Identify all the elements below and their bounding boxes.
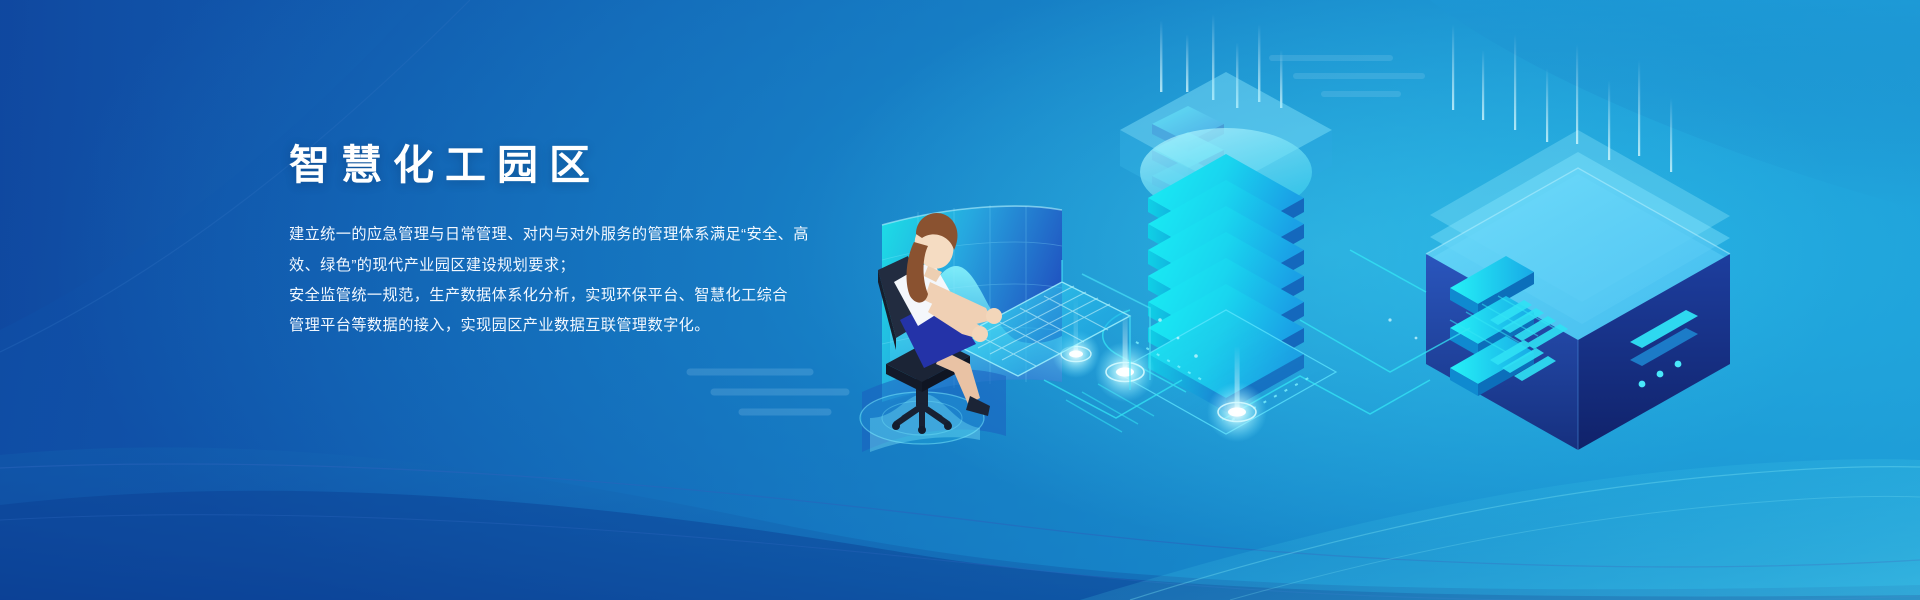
- wave-hairline-2: [0, 515, 1920, 600]
- description-line: 安全监管统一规范，生产数据体系化分析，实现环保平台、智慧化工综合: [289, 281, 909, 311]
- page-title: 智慧化工园区: [289, 142, 909, 189]
- description-line: 效、绿色”的现代产业园区建设规划要求；: [289, 251, 909, 281]
- cloud-glyph-left: [690, 372, 846, 412]
- description-line: 建立统一的应急管理与日常管理、对内与对外服务的管理体系满足“安全、高: [289, 220, 909, 250]
- banner-text-block: 智慧化工园区 建立统一的应急管理与日常管理、对内与对外服务的管理体系满足“安全、…: [289, 142, 909, 342]
- wave-lower-left-2: [0, 491, 1920, 600]
- description-block: 建立统一的应急管理与日常管理、对内与对外服务的管理体系满足“安全、高 效、绿色”…: [289, 189, 909, 342]
- hero-banner: 智慧化工园区 建立统一的应急管理与日常管理、对内与对外服务的管理体系满足“安全、…: [0, 0, 1920, 600]
- wave-hairline-right-2: [1230, 496, 1920, 600]
- isometric-datacenter-illustration: [830, 20, 1920, 490]
- circuit-path: [1350, 250, 1426, 292]
- description-line: 管理平台等数据的接入，实现园区产业数据互联管理数字化。: [289, 311, 909, 341]
